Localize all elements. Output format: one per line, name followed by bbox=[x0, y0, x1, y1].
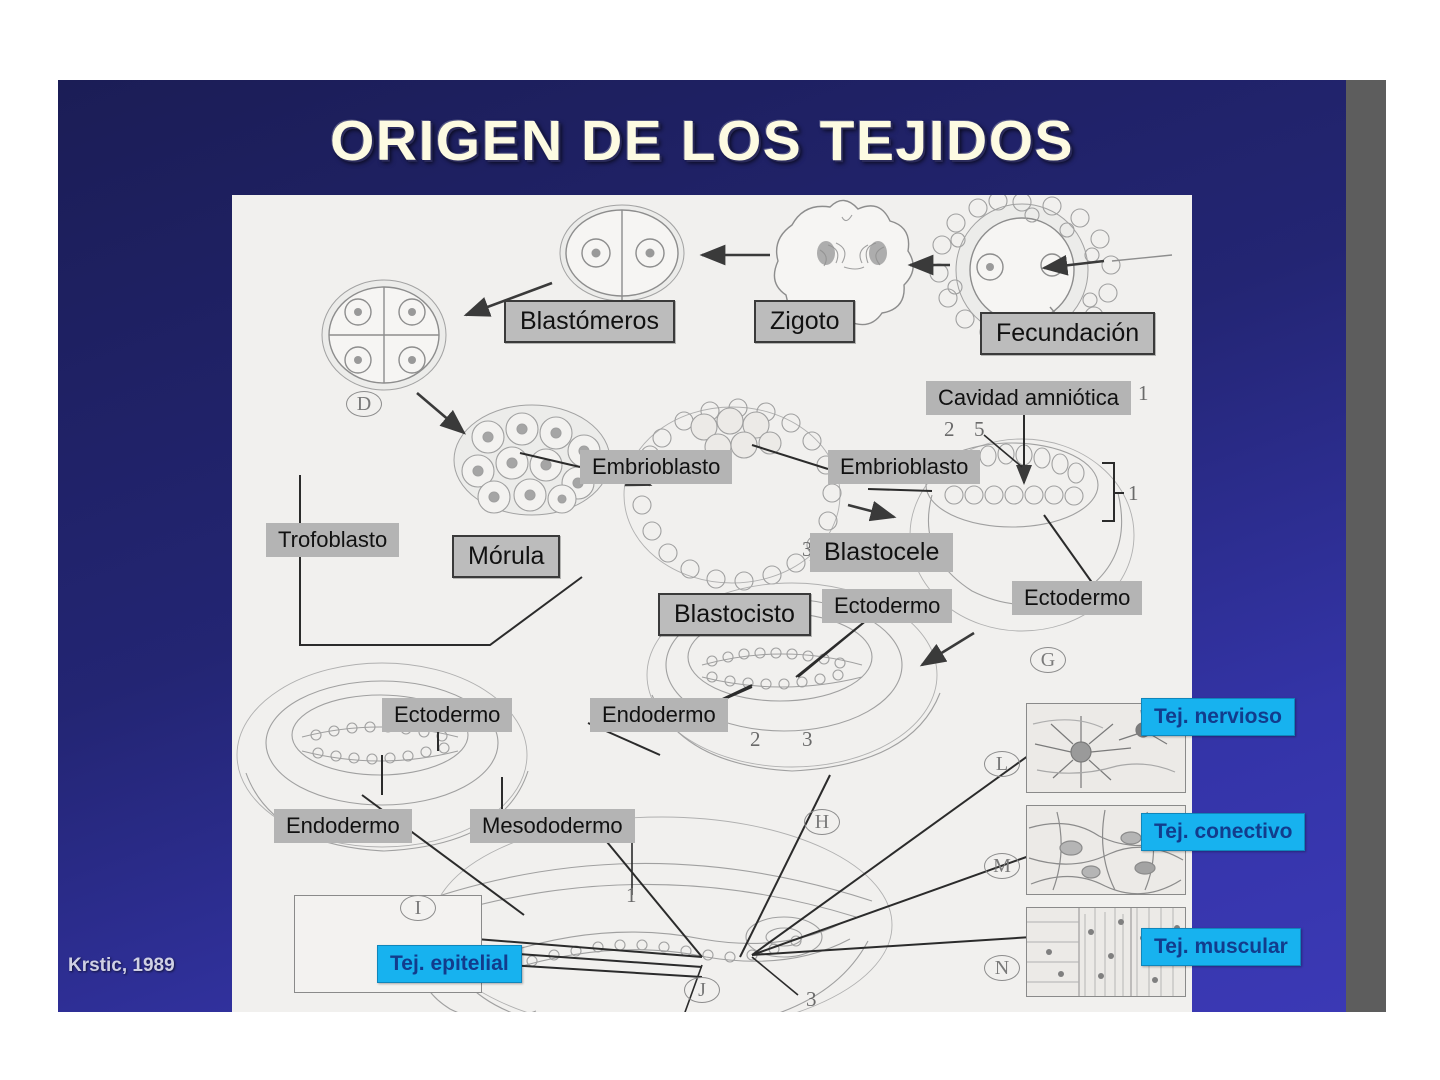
callout-number-fecundacion-2: 2 bbox=[944, 417, 955, 442]
callout-number-h-3: 3 bbox=[802, 727, 813, 752]
callout-number-h-2: 2 bbox=[750, 727, 761, 752]
stage-letter-l: L bbox=[984, 751, 1020, 777]
label-tej-epitelial[interactable]: Tej. epitelial bbox=[377, 945, 522, 983]
label-blastocisto[interactable]: Blastocisto bbox=[658, 593, 811, 636]
label-tej-muscular[interactable]: Tej. muscular bbox=[1141, 928, 1301, 966]
label-zigoto[interactable]: Zigoto bbox=[754, 300, 855, 343]
citation-text: Krstic, 1989 bbox=[68, 955, 175, 977]
stage-letter-n: N bbox=[984, 955, 1020, 981]
callout-number-j-3: 3 bbox=[806, 987, 817, 1012]
label-embrioblasto-1[interactable]: Embrioblasto bbox=[580, 450, 732, 484]
callout-number-disc-1: 1 bbox=[1128, 481, 1139, 506]
label-endodermo-h[interactable]: Endodermo bbox=[590, 698, 728, 732]
label-tej-conectivo[interactable]: Tej. conectivo bbox=[1141, 813, 1305, 851]
label-ectodermo-h[interactable]: Ectodermo bbox=[822, 589, 952, 623]
right-gray-bar bbox=[1346, 80, 1386, 1012]
page-title: ORIGEN DE LOS TEJIDOS bbox=[58, 108, 1346, 174]
label-mesododermo[interactable]: Mesododermo bbox=[470, 809, 635, 843]
presentation-slide: ORIGEN DE LOS TEJIDOS Krstic, 1989 .ln {… bbox=[58, 80, 1346, 1012]
stage-letter-g: G bbox=[1030, 647, 1066, 673]
stage-letter-d: D bbox=[346, 391, 382, 417]
stage-letter-i: I bbox=[400, 895, 436, 921]
label-tej-nervioso[interactable]: Tej. nervioso bbox=[1141, 698, 1295, 736]
label-cavidad-amniotica[interactable]: Cavidad amniótica bbox=[926, 381, 1131, 415]
label-morula[interactable]: Mórula bbox=[452, 535, 560, 578]
callout-number-disc-5: 5 bbox=[974, 417, 985, 442]
embryology-figure-panel: .ln { stroke:#8d8d8d; fill:none; stroke-… bbox=[232, 195, 1192, 1012]
slide-page: ORIGEN DE LOS TEJIDOS Krstic, 1989 .ln {… bbox=[0, 0, 1440, 1080]
stage-letter-h: H bbox=[804, 809, 840, 835]
label-trofoblasto[interactable]: Trofoblasto bbox=[266, 523, 399, 557]
label-ectodermo-i[interactable]: Ectodermo bbox=[382, 698, 512, 732]
label-ectodermo-right[interactable]: Ectodermo bbox=[1012, 581, 1142, 615]
stage-letter-j: J bbox=[684, 977, 720, 1003]
label-fecundacion[interactable]: Fecundación bbox=[980, 312, 1155, 355]
callout-number-fecundacion-1: 1 bbox=[1138, 381, 1149, 406]
callout-number-j-1: 1 bbox=[626, 883, 637, 908]
label-blastocele[interactable]: Blastocele bbox=[810, 533, 953, 572]
label-endodermo-i[interactable]: Endodermo bbox=[274, 809, 412, 843]
label-embrioblasto-2[interactable]: Embrioblasto bbox=[828, 450, 980, 484]
stage-letter-m: M bbox=[984, 853, 1020, 879]
label-blastomeros[interactable]: Blastómeros bbox=[504, 300, 675, 343]
